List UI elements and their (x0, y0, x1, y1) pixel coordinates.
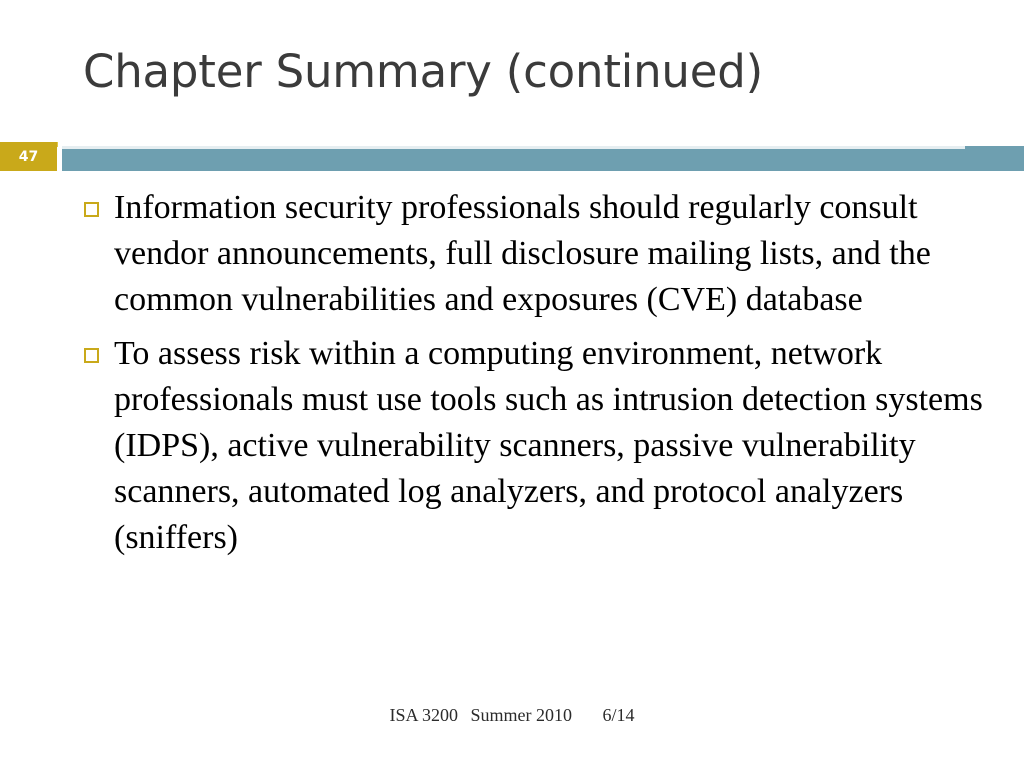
list-item-text: Information security professionals shoul… (114, 185, 988, 323)
slide-number-badge: 47 (0, 142, 57, 171)
title-divider: 47 (0, 142, 1024, 172)
square-bullet-icon (84, 348, 99, 363)
page-title: Chapter Summary (continued) (83, 48, 983, 96)
slide-number-label: 47 (19, 150, 38, 164)
list-item-text: To assess risk within a computing enviro… (114, 331, 988, 561)
divider-bar-highlight (62, 146, 965, 149)
square-bullet-icon (84, 202, 99, 217)
slide: Chapter Summary (continued) 47 Informati… (0, 0, 1024, 768)
bullet-list: Information security professionals shoul… (78, 185, 988, 569)
list-item: Information security professionals shoul… (78, 185, 988, 323)
footer-term-label: Summer 2010 (471, 705, 573, 725)
divider-bar (62, 146, 1024, 171)
list-item: To assess risk within a computing enviro… (78, 331, 988, 561)
slide-footer: ISA 3200 Summer 2010 6/14 (0, 705, 1024, 726)
footer-course-label: ISA 3200 (389, 705, 458, 725)
footer-page-count: 6/14 (603, 705, 635, 725)
